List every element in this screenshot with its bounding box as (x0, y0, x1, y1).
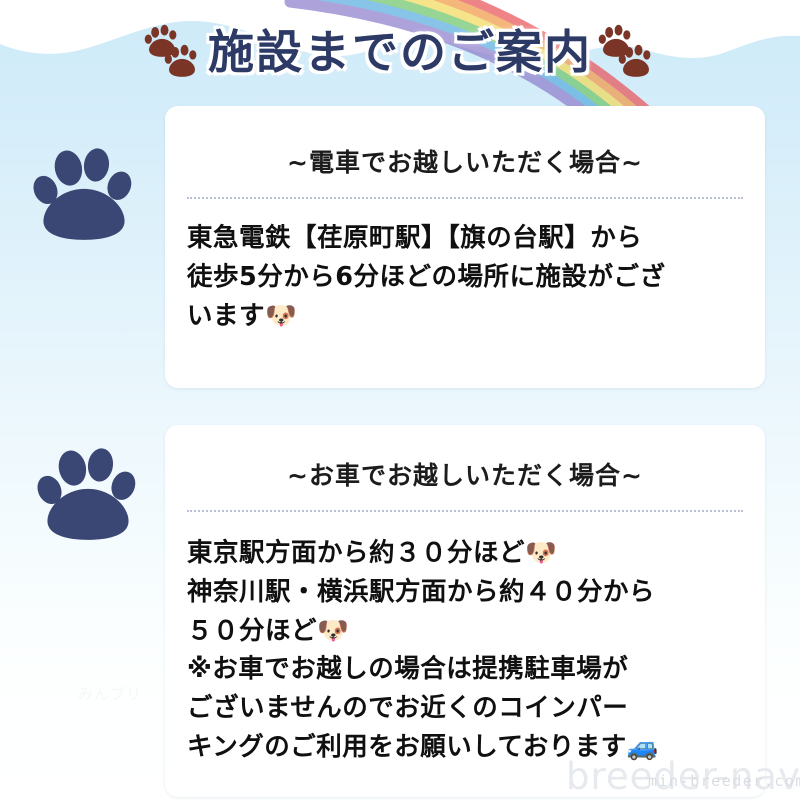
card-text-line: います🐶 (187, 297, 743, 336)
paw-print-icon-car-section (36, 440, 140, 544)
watermark-min-breeder: min-breeder.com (648, 772, 800, 790)
page-title-row: 施設までのご案内 (0, 14, 800, 90)
card-text-line: ※お車でお越しの場合は提携駐車場が (187, 650, 743, 689)
guide-page: 施設までのご案内 (0, 0, 800, 800)
paw-print-icon-train-section (32, 140, 136, 244)
watermark-faint: みんブリ (78, 683, 142, 704)
card-text-line: 東京駅方面から約３０分ほど🐶 (187, 534, 743, 573)
card-text-line: 徒歩5分から6分ほどの場所に施設がござ (187, 258, 743, 297)
card-body-car: 東京駅方面から約３０分ほど🐶 神奈川駅・横浜駅方面から約４０分から ５０分ほど🐶… (165, 512, 765, 767)
card-text-line: 東急電鉄【荏原町駅】【旗の台駅】から (187, 219, 743, 258)
card-body-train: 東急電鉄【荏原町駅】【旗の台駅】から 徒歩5分から6分ほどの場所に施設がござ い… (165, 199, 765, 335)
paw-print-icon-right (598, 23, 656, 81)
paw-print-icon-left (144, 23, 202, 81)
card-heading-train: ~電車でお越しいただく場合~ (165, 106, 765, 175)
card-heading-car: ~お車でお越しいただく場合~ (165, 425, 765, 488)
info-card-train: ~電車でお越しいただく場合~ 東急電鉄【荏原町駅】【旗の台駅】から 徒歩5分から… (165, 106, 765, 388)
card-text-line: 神奈川駅・横浜駅方面から約４０分から (187, 573, 743, 612)
info-card-car: ~お車でお越しいただく場合~ 東京駅方面から約３０分ほど🐶 神奈川駅・横浜駅方面… (165, 425, 765, 797)
card-text-line: ５０分ほど🐶 (187, 612, 743, 651)
card-text-line: ございませんのでお近くのコインパー (187, 689, 743, 728)
page-title: 施設までのご案内 (208, 29, 592, 75)
